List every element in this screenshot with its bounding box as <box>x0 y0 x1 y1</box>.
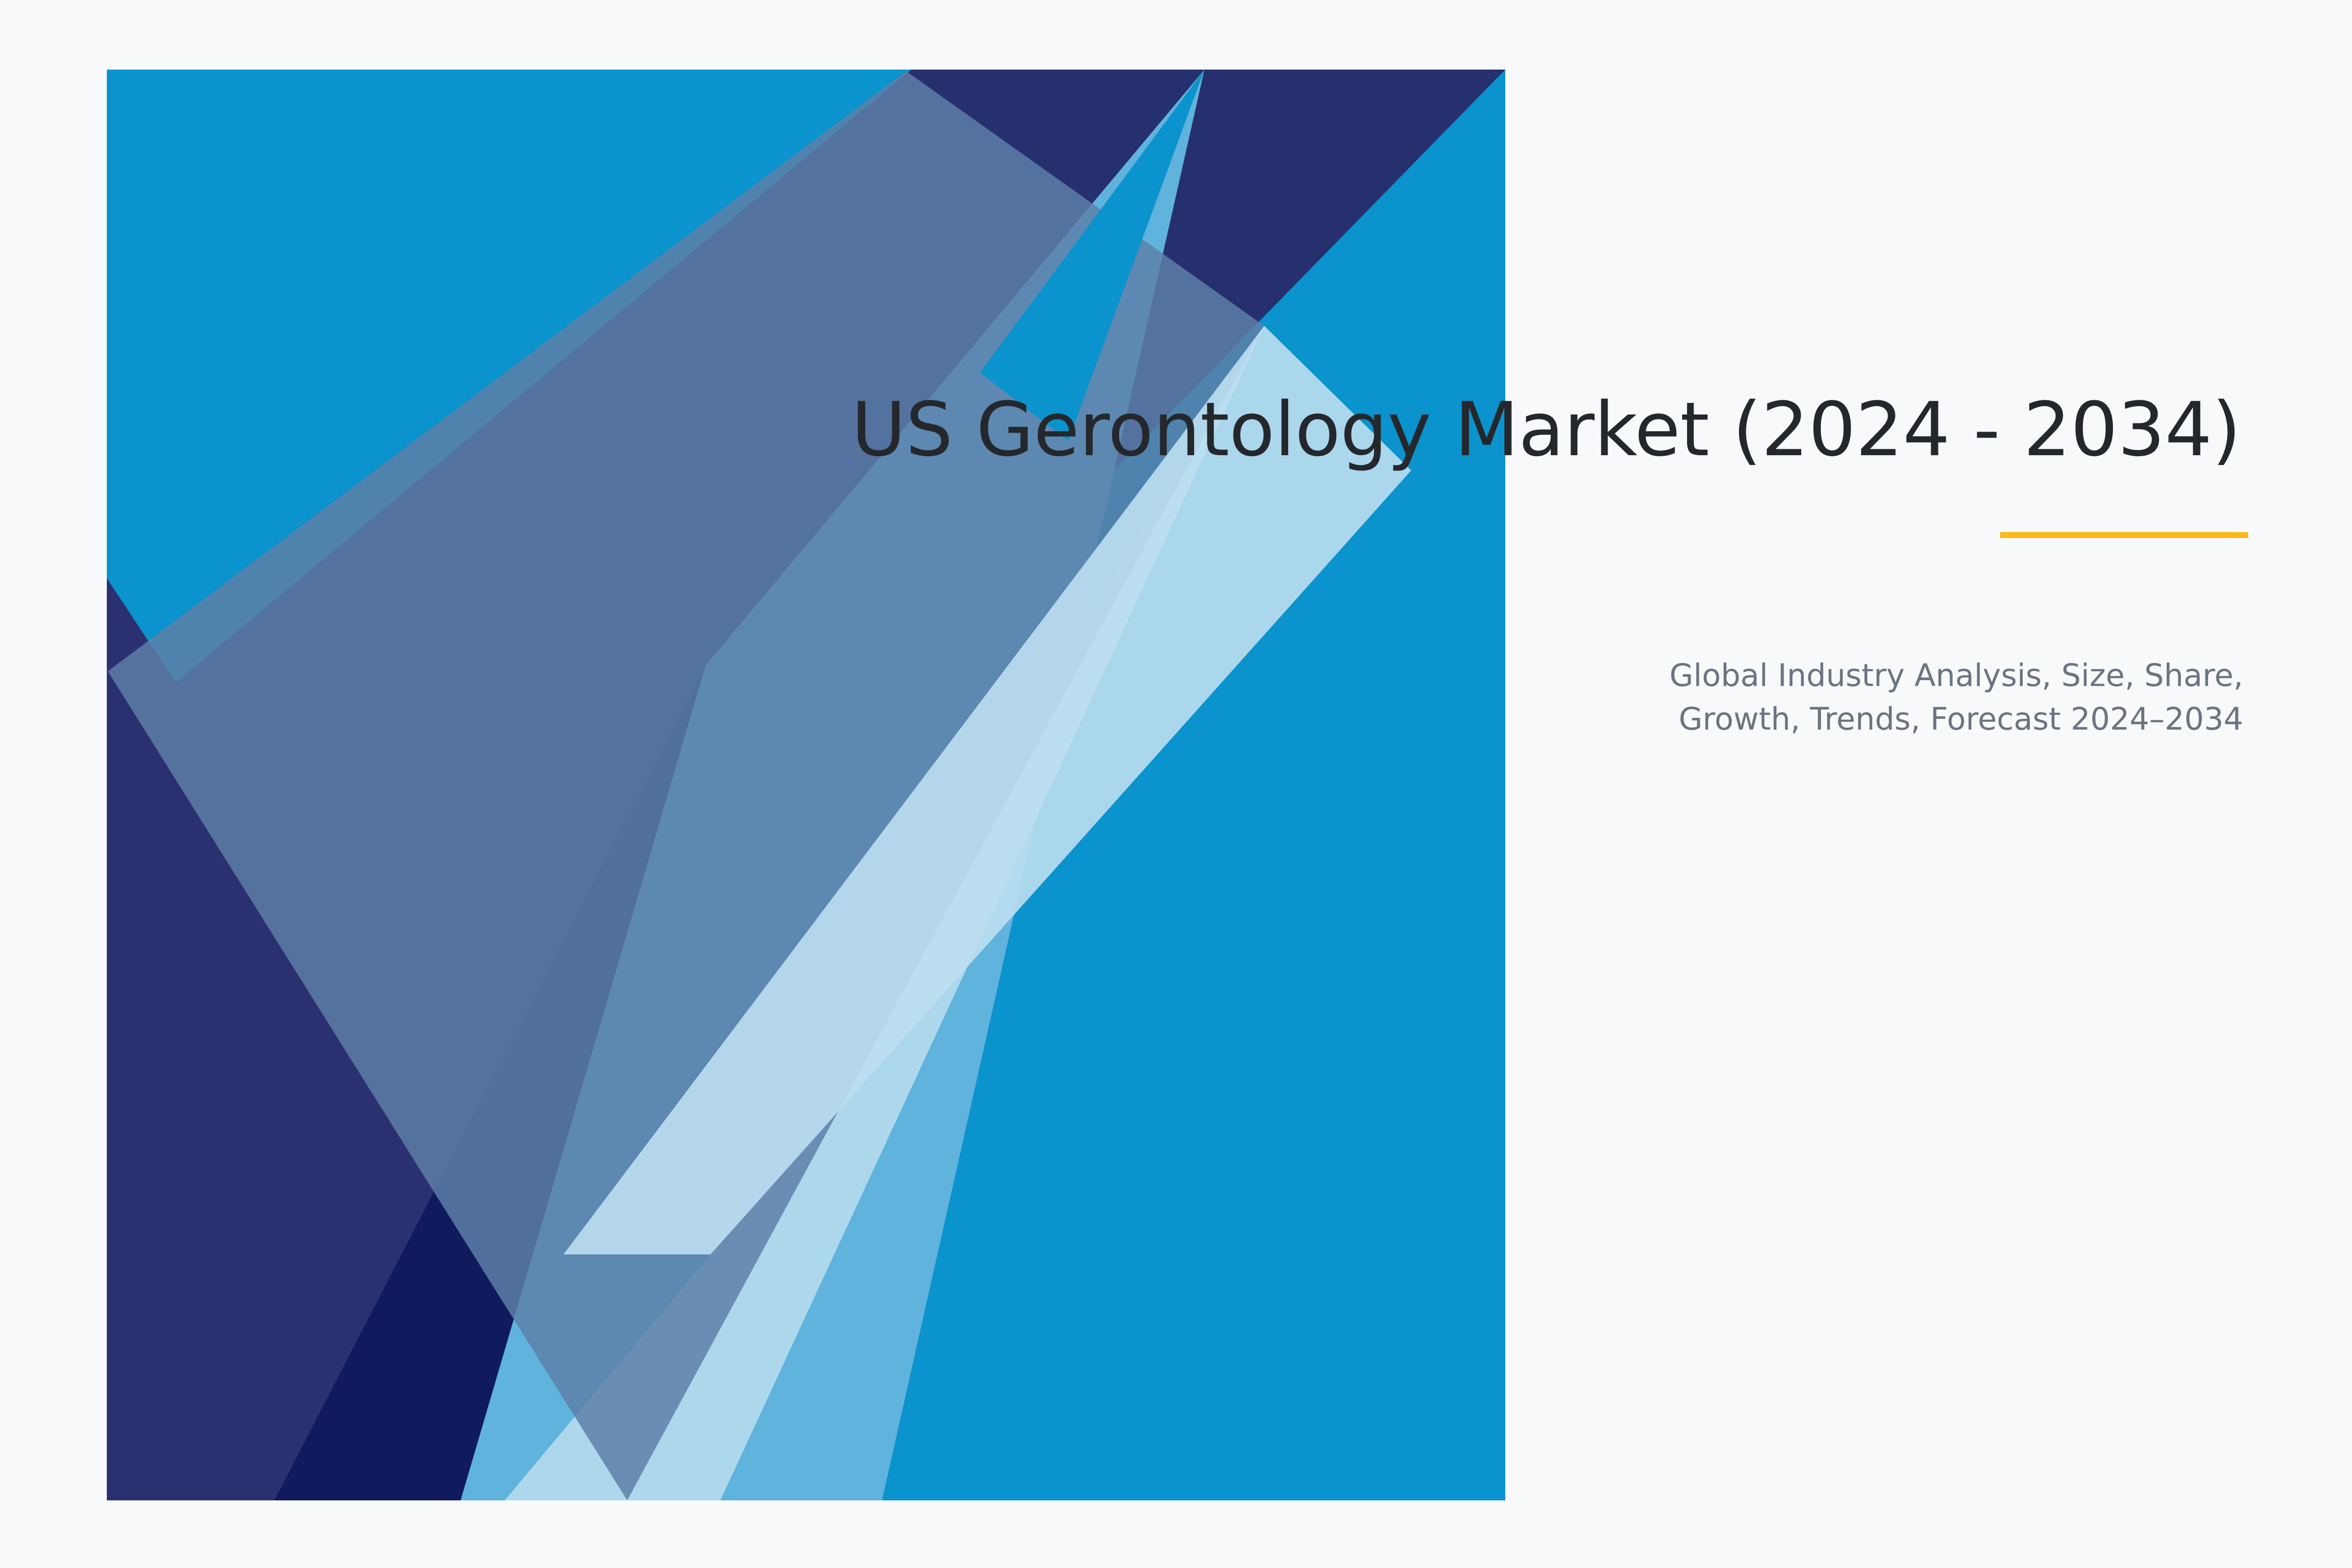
abstract-polygon-artwork <box>0 0 2352 1568</box>
cover-slide: US Gerontology Market (2024 - 2034) Glob… <box>0 0 2352 1568</box>
